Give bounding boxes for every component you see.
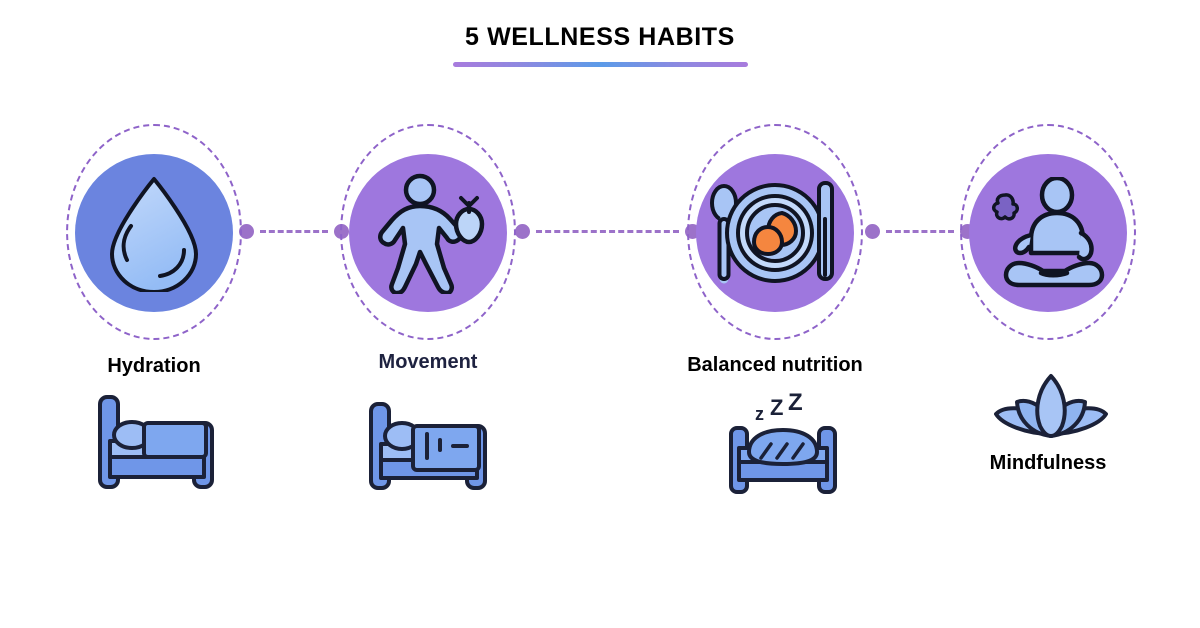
apple-shape <box>456 198 482 242</box>
step-hydration[interactable] <box>66 124 242 340</box>
sleep-z-glyphs: z Z Z <box>755 390 803 424</box>
connector-dot-left <box>865 224 880 239</box>
meditation-figure-icon <box>969 154 1127 312</box>
svg-text:Z: Z <box>770 395 783 420</box>
step-movement[interactable] <box>340 124 516 340</box>
svg-text:z: z <box>755 404 764 424</box>
step-label-mindfulness: Mindfulness <box>948 452 1148 475</box>
step-label-balanced-nutrition: Balanced nutrition <box>660 354 890 377</box>
step-balanced-nutrition[interactable] <box>687 124 863 340</box>
connector-dot-left <box>515 224 530 239</box>
connector-dash <box>536 230 679 233</box>
aroma-swirl <box>994 195 1018 219</box>
connector-3 <box>865 224 975 239</box>
step-mindfulness[interactable] <box>960 124 1136 340</box>
connector-dash <box>886 230 954 233</box>
title-underline-rule <box>453 62 748 67</box>
step-label-movement: Movement <box>328 351 528 374</box>
title-block: 5 WELLNESS HABITS <box>0 24 1200 67</box>
plate-with-cutlery-icon <box>696 154 854 312</box>
connector-1 <box>239 224 349 239</box>
bed-side-icon <box>96 393 218 496</box>
water-drop-icon <box>75 154 233 312</box>
connector-2 <box>515 224 700 239</box>
step-label-hydration: Hydration <box>54 355 254 378</box>
bed-sleeping-icon: z Z Z <box>727 390 839 503</box>
lotus-flower-icon <box>992 372 1110 449</box>
infographic-canvas: 5 WELLNESS HABITS <box>0 0 1200 628</box>
bed-side-detail-icon <box>367 400 491 497</box>
connector-dash <box>260 230 328 233</box>
svg-text:Z: Z <box>788 390 803 416</box>
person-with-apple-icon <box>349 154 507 312</box>
page-title: 5 WELLNESS HABITS <box>0 24 1200 52</box>
